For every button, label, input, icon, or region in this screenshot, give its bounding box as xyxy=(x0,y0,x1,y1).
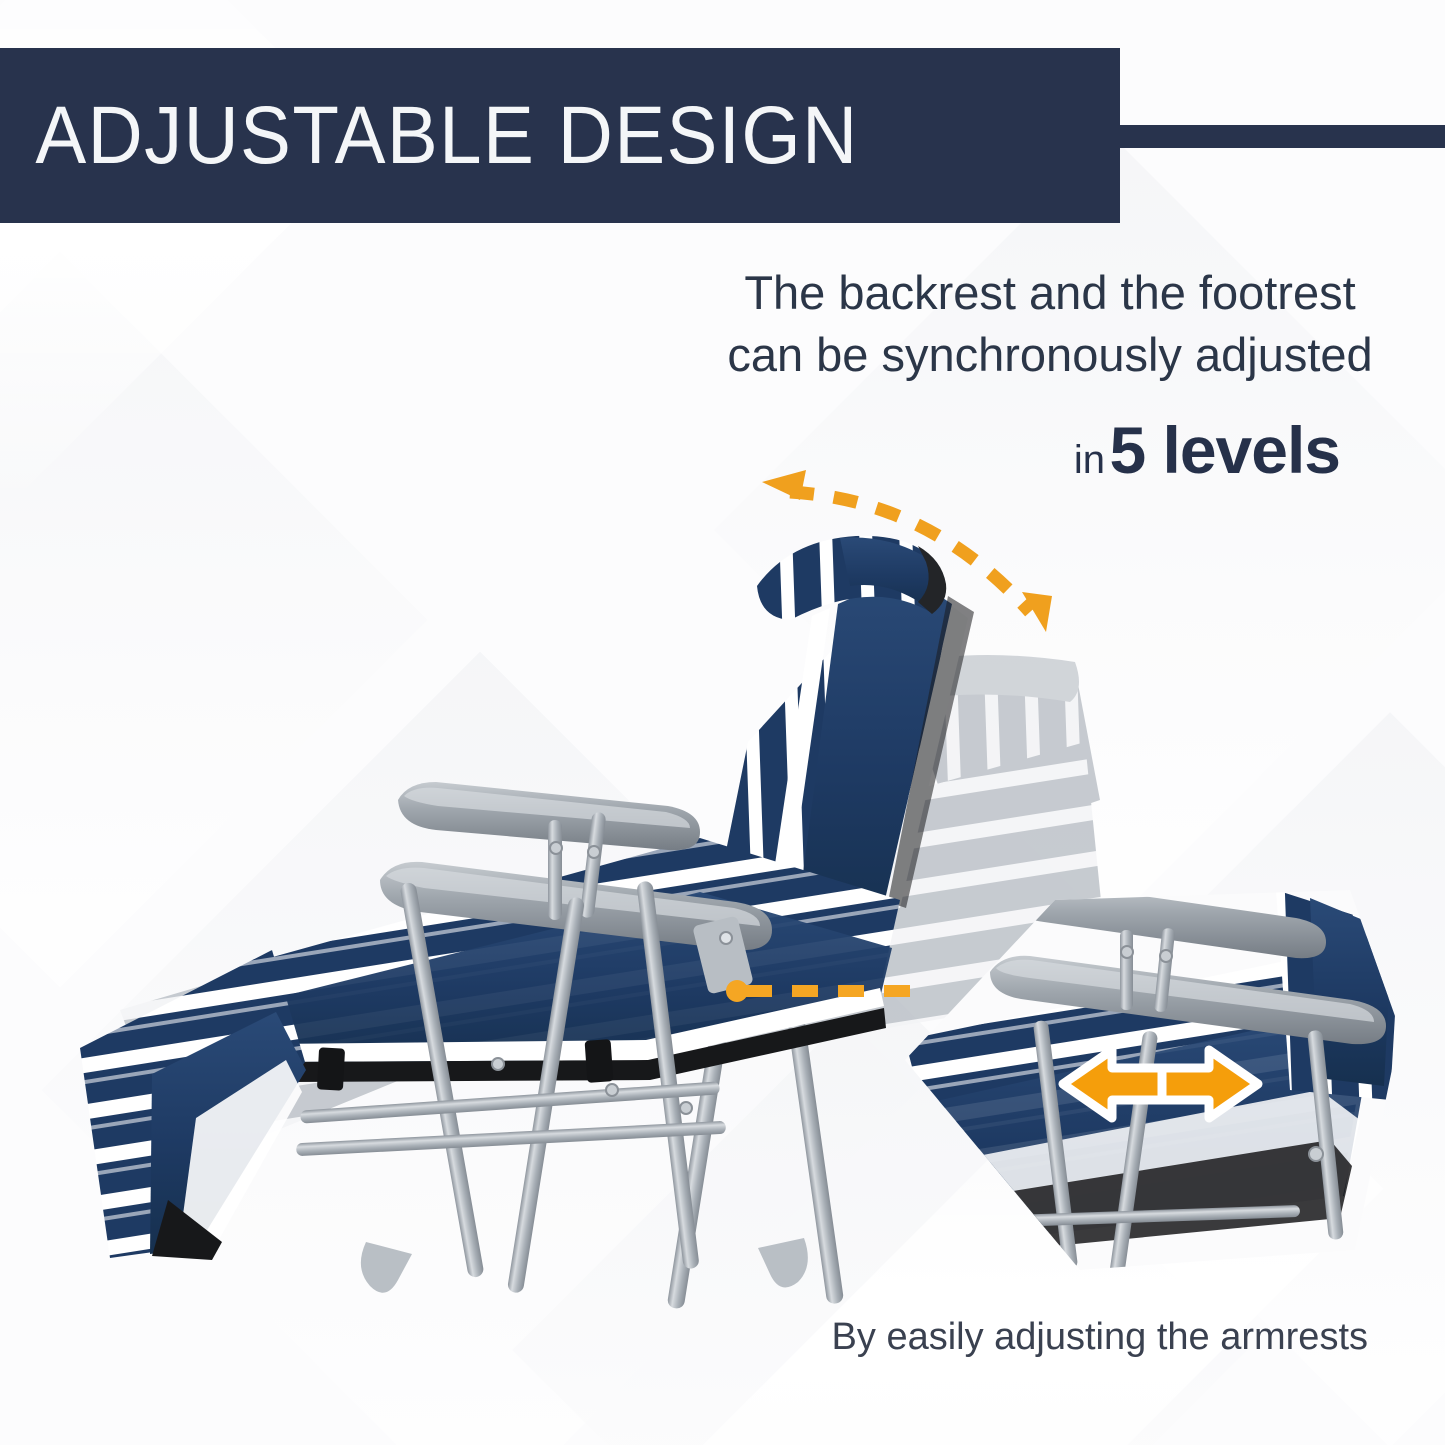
bottom-caption: By easily adjusting the armrests xyxy=(740,1316,1390,1359)
headline-line-1: The backrest and the footrest xyxy=(700,262,1400,324)
levels-text: in 5 levels xyxy=(700,412,1400,488)
levels-value: 5 levels xyxy=(1109,413,1340,487)
main-lounger-reclined xyxy=(80,536,974,1310)
levels-prefix: in xyxy=(1074,438,1105,482)
headline-line-2: can be synchronously adjusted xyxy=(700,324,1400,386)
infographic-canvas: ADJUSTABLE DESIGN The backrest and the f… xyxy=(0,0,1445,1445)
page-title: ADJUSTABLE DESIGN xyxy=(0,95,859,177)
footrest-cushion xyxy=(80,950,306,1260)
header-banner: ADJUSTABLE DESIGN xyxy=(0,48,1120,223)
header-accent-bar xyxy=(1118,125,1445,148)
headline-text: The backrest and the footrest can be syn… xyxy=(700,262,1400,386)
